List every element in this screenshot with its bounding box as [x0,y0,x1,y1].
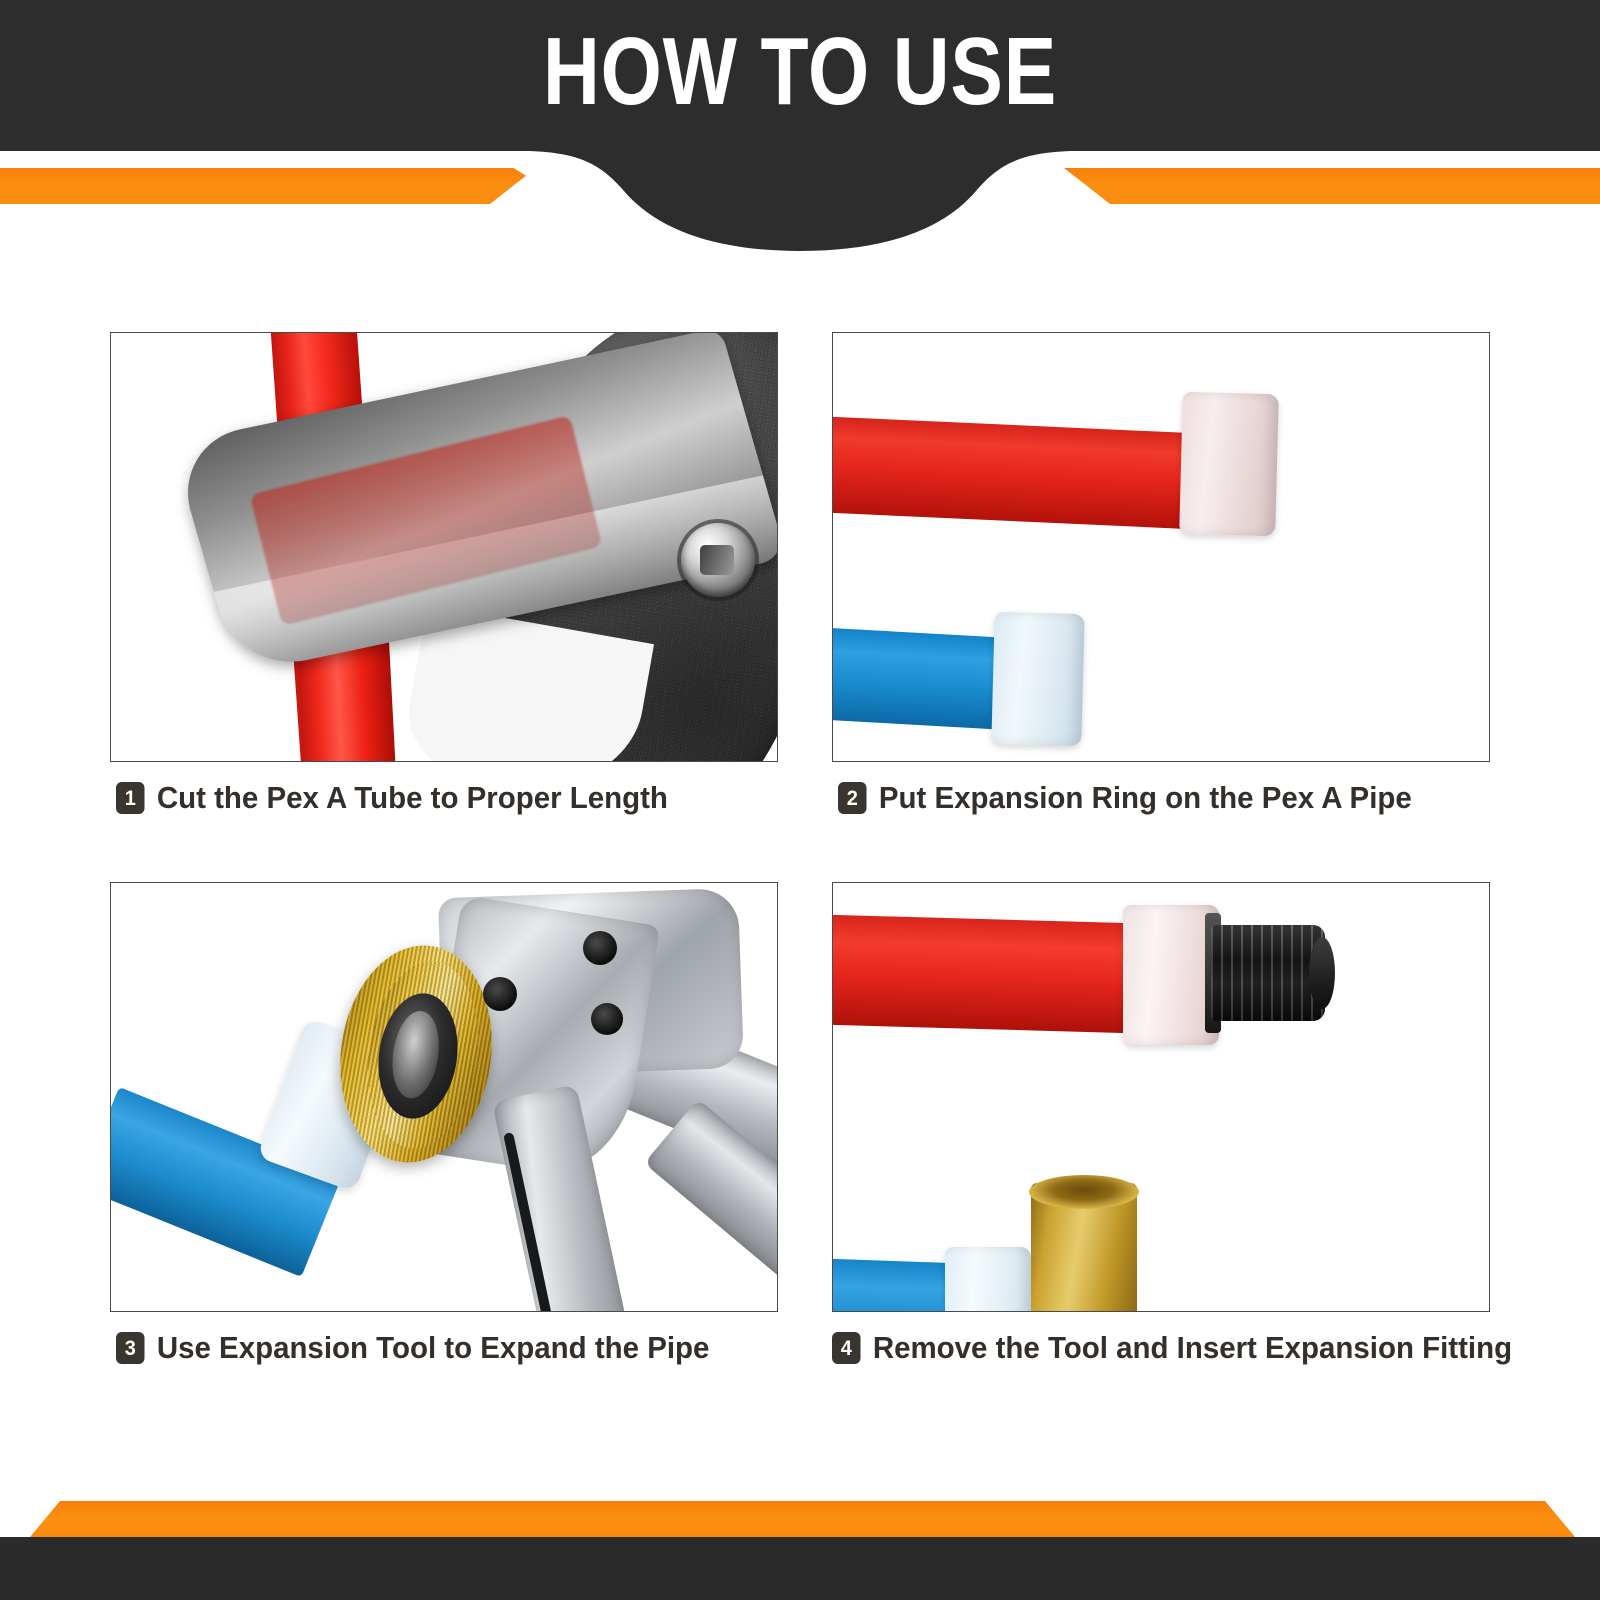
step-number-badge-1: 1 [116,782,145,814]
step-caption-text-2: Put Expansion Ring on the Pex A Pipe [879,780,1412,816]
brass-elbow-opening [1029,1175,1139,1209]
step-image-3 [110,882,778,1312]
footer-bar-right-taper [1545,1501,1575,1537]
red-expansion-ring [1179,392,1279,536]
header-curved-tab [530,145,1070,251]
step-image-2 [832,332,1490,762]
step-caption-2: 2 Put Expansion Ring on the Pex A Pipe [838,780,1412,816]
page-title: HOW TO USE [144,0,1456,151]
footer-band [0,1537,1600,1600]
step-caption-text-3: Use Expansion Tool to Expand the Pipe [157,1330,710,1366]
tool-pivot-hole [591,1003,623,1035]
tool-pivot-hole [583,931,617,965]
step-caption-text-4: Remove the Tool and Insert Expansion Fit… [873,1330,1512,1366]
header-orange-bar-left [0,168,570,204]
step-caption-text-1: Cut the Pex A Tube to Proper Length [157,780,668,816]
step-number-badge-4: 4 [832,1332,861,1364]
step-number-badge-2: 2 [838,782,867,814]
red-pex-pipe [832,915,1136,1034]
blue-pex-pipe [832,628,1015,730]
step-number-badge-3: 3 [116,1332,145,1364]
blue-expansion-ring [945,1247,1031,1312]
step-caption-4: 4 Remove the Tool and Insert Expansion F… [832,1330,1512,1366]
step-image-4 [832,882,1490,1312]
header-orange-bar-right [1030,168,1600,204]
step-caption-1: 1 Cut the Pex A Tube to Proper Length [116,780,668,816]
step-caption-3: 3 Use Expansion Tool to Expand the Pipe [116,1330,709,1366]
red-pex-pipe [832,417,1199,530]
tool-pivot-hole [483,977,517,1011]
blue-expansion-ring [991,612,1084,746]
cutter-pivot-rivet [681,523,755,597]
footer-bar-left-taper [30,1501,60,1537]
black-expansion-fitting [1211,925,1325,1021]
blue-pex-pipe [832,1259,961,1312]
step-image-1 [110,332,778,762]
footer-orange-bar [30,1501,1575,1537]
